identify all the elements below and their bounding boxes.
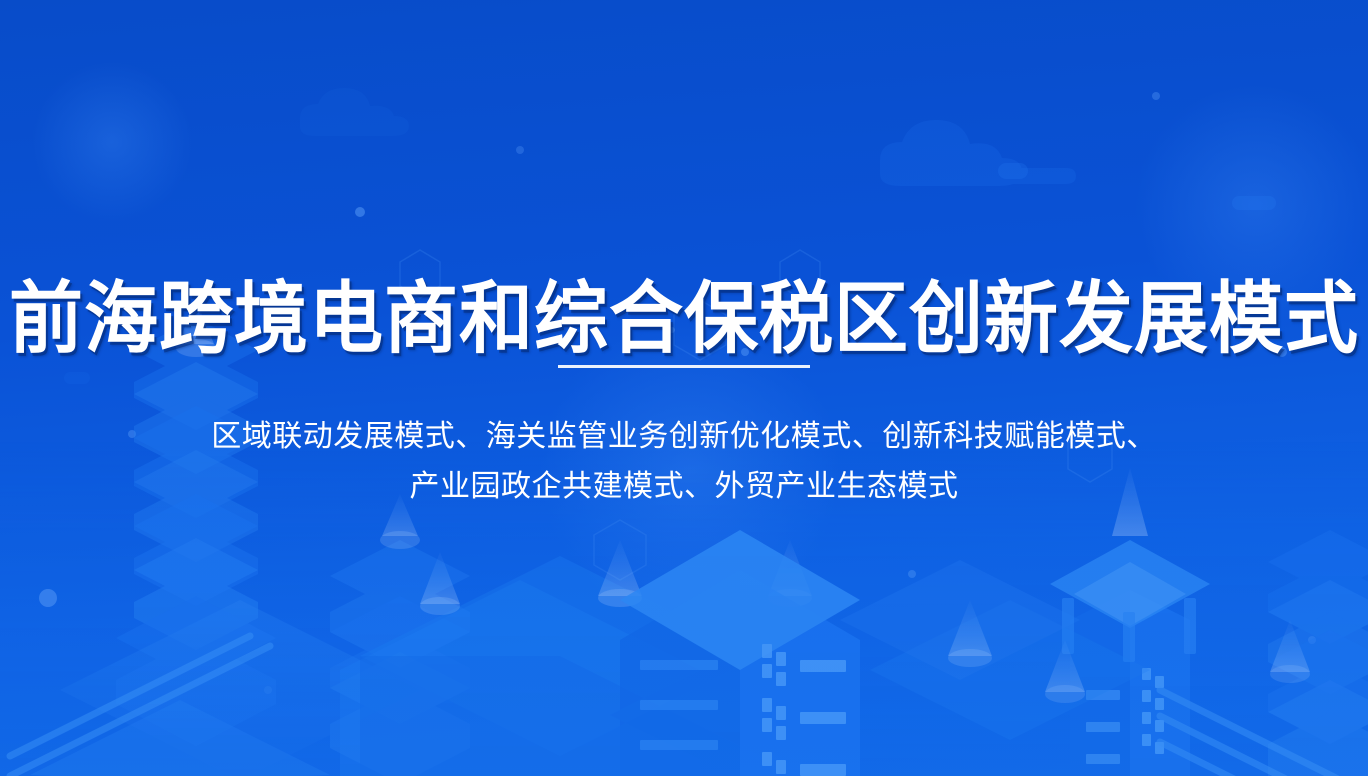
title-divider (558, 365, 810, 368)
subtitle-line-1: 区域联动发展模式、海关监管业务创新优化模式、创新科技赋能模式、 (0, 412, 1368, 462)
page-title: 前海跨境电商和综合保税区创新发展模式 (0, 273, 1368, 364)
slide-root: 前海跨境电商和综合保税区创新发展模式 区域联动发展模式、海关监管业务创新优化模式… (0, 0, 1368, 776)
subtitle-block: 区域联动发展模式、海关监管业务创新优化模式、创新科技赋能模式、 产业园政企共建模… (0, 412, 1368, 512)
slide-content: 前海跨境电商和综合保税区创新发展模式 区域联动发展模式、海关监管业务创新优化模式… (0, 0, 1368, 776)
subtitle-line-2: 产业园政企共建模式、外贸产业生态模式 (0, 462, 1368, 512)
